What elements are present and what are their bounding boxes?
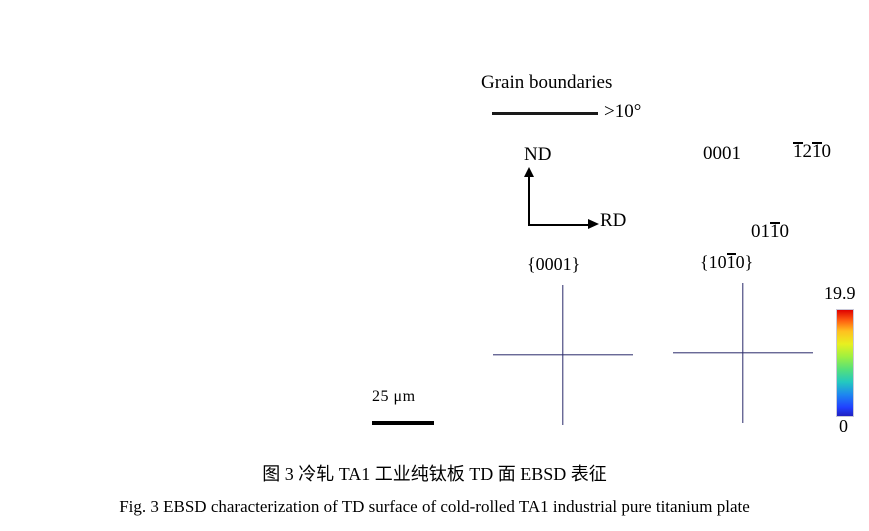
ebsd-map-canvas [8,8,455,435]
figure-caption-chinese: 图 3 冷轧 TA1 工业纯钛板 TD 面 EBSD 表征 [0,460,869,486]
pole-figure-0001-title: {0001} [527,254,580,275]
ipf-digit-0b: 0 [780,221,790,242]
pole-figure-1010-title: {1010} [700,252,753,273]
pf2-horizontal-axis [673,352,813,353]
scale-bar-label: 25 μm [372,388,416,406]
intensity-colorbar [836,309,854,417]
ipf-overbar-1c: 1 [770,221,780,243]
pf2-title-end: 0} [736,252,754,272]
nd-arrow-icon [524,167,534,177]
pole-figure-0001 [493,285,633,425]
ipf-label-0-1-1-0: 0110 [751,221,789,243]
rd-axis-line [528,224,590,226]
grain-boundaries-legend-title: Grain boundaries [481,72,612,94]
pf2-title-start: {10 [700,252,727,272]
grain-boundary-angle-label: >10° [604,101,641,123]
nd-axis-line [528,176,530,226]
ipf-digit-0: 0 [822,141,832,162]
colorbar-max-label: 19.9 [824,283,856,304]
ebsd-orientation-map [8,8,455,435]
ipf-overbar-1: 1 [793,141,803,163]
ipf-label-1-2-1-0: 1210 [793,141,831,163]
ipf-digits-01: 01 [751,221,770,242]
axis-label-nd: ND [524,144,551,166]
scale-bar-line [372,421,434,425]
pf2-overbar-1: 1 [727,252,736,273]
pf1-horizontal-axis [493,354,633,355]
colorbar-min-label: 0 [839,416,848,437]
ipf-digit-2: 2 [803,141,813,162]
ipf-label-0001: 0001 [703,143,741,165]
grain-boundary-line-sample [492,112,598,115]
rd-arrow-icon [588,219,599,229]
pole-figure-1010 [673,283,813,423]
orientation-axes-indicator [528,168,610,226]
ipf-overbar-1b: 1 [812,141,822,163]
ipf-color-key-triangle [700,168,860,223]
figure-caption-english: Fig. 3 EBSD characterization of TD surfa… [0,497,869,517]
